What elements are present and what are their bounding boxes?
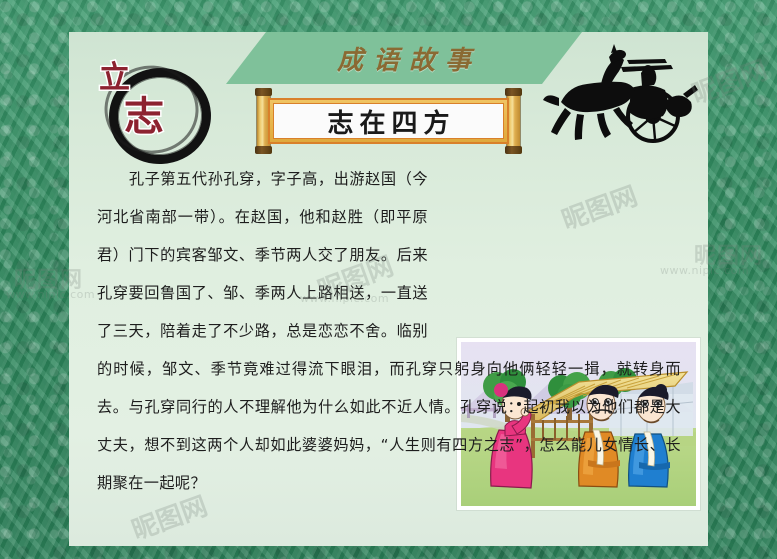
seal-logo: 立 志 xyxy=(81,46,206,156)
poster-canvas: 成语故事 立 志 xyxy=(0,0,777,559)
scroll-body: 志在四方 xyxy=(268,98,509,144)
scroll-inner-panel: 志在四方 xyxy=(273,103,504,139)
scroll-plaque: 志在四方 xyxy=(257,90,520,152)
illustration-wrap-spacer xyxy=(438,166,681,338)
story-body: 孔子第五代孙孔穿，字子高，出游赵国（今河北省南部一带）。在赵国，他和赵胜（即平原… xyxy=(97,160,681,502)
content-panel: 成语故事 立 志 xyxy=(69,32,708,546)
idiom-title: 志在四方 xyxy=(321,103,455,140)
header-title: 成语故事 xyxy=(226,32,582,84)
seal-char-zhi: 志 xyxy=(124,84,164,142)
han-chariot-silhouette-icon xyxy=(543,40,698,150)
